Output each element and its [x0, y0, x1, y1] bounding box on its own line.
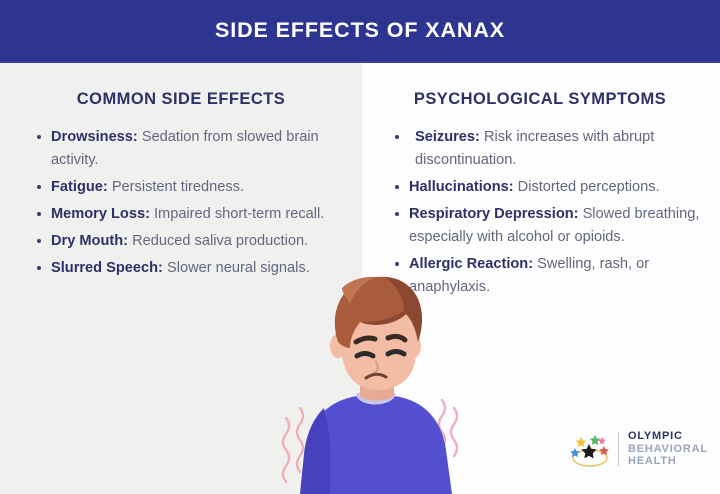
list-item-term: Respiratory Depression:	[409, 206, 579, 222]
list-common-side-effects: Drowsiness: Sedation from slowed brain a…	[36, 126, 340, 280]
column-psychological-symptoms: PSYCHOLOGICAL SYMPTOMS Seizures: Risk in…	[362, 63, 720, 303]
list-item-description: Distorted perceptions.	[514, 179, 660, 195]
list-item: Fatigue: Persistent tiredness.	[36, 176, 340, 199]
list-item: Hallucinations: Distorted perceptions.	[394, 176, 702, 199]
list-item: Allergic Reaction: Swelling, rash, or an…	[394, 253, 702, 299]
list-psychological-symptoms: Seizures: Risk increases with abrupt dis…	[394, 126, 702, 299]
list-item: Dry Mouth: Reduced saliva production.	[36, 230, 340, 253]
list-item-term: Memory Loss:	[51, 206, 150, 222]
header-band: SIDE EFFECTS OF XANAX	[0, 0, 720, 61]
list-item: Seizures: Risk increases with abrupt dis…	[394, 126, 702, 172]
heading-psychological-symptoms: PSYCHOLOGICAL SYMPTOMS	[374, 90, 706, 109]
heading-common-side-effects: COMMON SIDE EFFECTS	[14, 90, 348, 109]
infographic-root: SIDE EFFECTS OF XANAX COMMON SIDE EFFECT…	[0, 0, 720, 494]
list-item: Drowsiness: Sedation from slowed brain a…	[36, 126, 340, 172]
column-common-side-effects: COMMON SIDE EFFECTS Drowsiness: Sedation…	[0, 63, 362, 284]
olympic-stars-emblem-icon	[568, 428, 612, 470]
list-item-description: Impaired short-term recall.	[150, 206, 324, 222]
logo-line-health: HEALTH	[628, 455, 708, 468]
list-item-term: Drowsiness:	[51, 129, 138, 145]
list-item-description: Reduced saliva production.	[128, 233, 308, 249]
list-item-term: Slurred Speech:	[51, 260, 163, 276]
list-item-description: Persistent tiredness.	[108, 179, 244, 195]
list-item-term: Hallucinations:	[409, 179, 514, 195]
logo-line-behavioral: BEHAVIORAL	[628, 443, 708, 456]
logo-wordmark: OLYMPIC BEHAVIORAL HEALTH	[628, 430, 708, 469]
list-item: Slurred Speech: Slower neural signals.	[36, 257, 340, 280]
page-title: SIDE EFFECTS OF XANAX	[215, 18, 505, 43]
list-item: Respiratory Depression: Slowed breathing…	[394, 203, 702, 249]
list-item-term: Allergic Reaction:	[409, 256, 533, 272]
list-item-term: Seizures:	[415, 129, 480, 145]
list-item-description: Slower neural signals.	[163, 260, 310, 276]
list-item-term: Fatigue:	[51, 179, 108, 195]
list-item: Memory Loss: Impaired short-term recall.	[36, 203, 340, 226]
logo-divider	[618, 432, 619, 466]
brand-logo: OLYMPIC BEHAVIORAL HEALTH	[568, 423, 700, 475]
logo-line-olympic: OLYMPIC	[628, 430, 708, 443]
list-item-term: Dry Mouth:	[51, 233, 128, 249]
